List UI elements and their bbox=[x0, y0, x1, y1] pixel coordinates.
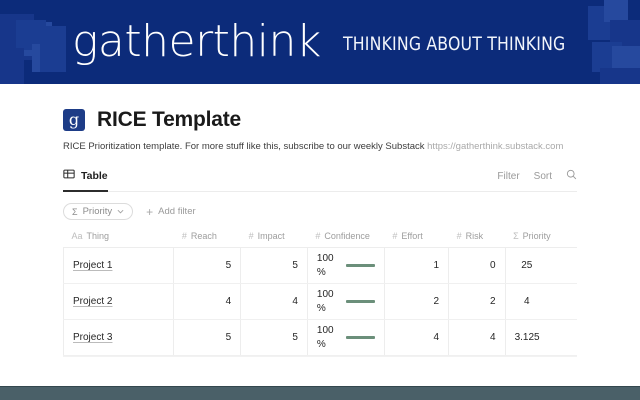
confidence-progress-bar bbox=[346, 264, 375, 267]
confidence-progress-bar bbox=[346, 336, 375, 339]
sigma-type-icon: Σ bbox=[513, 231, 519, 241]
sort-button[interactable]: Sort bbox=[534, 171, 552, 182]
cell-thing[interactable]: Project 1 bbox=[64, 248, 174, 284]
cell-confidence[interactable]: 100% bbox=[307, 320, 384, 356]
cell-risk[interactable]: 2 bbox=[449, 284, 505, 320]
cell-reach[interactable]: 5 bbox=[174, 248, 241, 284]
brand-tagline: THINKING ABOUT THINKING bbox=[343, 29, 565, 55]
text-type-icon: Aa bbox=[72, 231, 83, 241]
page-footer-bar bbox=[0, 386, 640, 400]
decor-square bbox=[604, 0, 628, 22]
column-header-risk[interactable]: #Risk bbox=[449, 231, 505, 248]
cell-impact[interactable]: 5 bbox=[241, 320, 308, 356]
number-type-icon: # bbox=[249, 231, 254, 241]
cell-priority: 25 bbox=[505, 248, 577, 284]
g-logo-icon: g bbox=[63, 109, 85, 131]
cell-effort[interactable]: 4 bbox=[384, 320, 448, 356]
column-header-thing[interactable]: AaThing bbox=[64, 231, 174, 248]
cell-reach[interactable]: 4 bbox=[174, 284, 241, 320]
decor-square bbox=[0, 48, 24, 84]
table-row[interactable]: Project 2 4 4 100% 2 2 4 bbox=[64, 284, 578, 320]
cell-reach[interactable]: 5 bbox=[174, 320, 241, 356]
sigma-icon: Σ bbox=[72, 207, 78, 217]
tab-table-label: Table bbox=[81, 170, 108, 182]
table-row[interactable]: Project 3 5 5 100% 4 4 3.125 bbox=[64, 320, 578, 356]
number-type-icon: # bbox=[182, 231, 187, 241]
filter-bar: Σ Priority + Add filter bbox=[63, 203, 577, 220]
search-icon[interactable] bbox=[566, 167, 577, 185]
filter-chip-priority[interactable]: Σ Priority bbox=[63, 203, 133, 220]
table-bottom-divider bbox=[63, 356, 577, 357]
cell-confidence[interactable]: 100% bbox=[307, 284, 384, 320]
decor-square bbox=[612, 46, 640, 70]
page-description-text: RICE Prioritization template. For more s… bbox=[63, 141, 425, 152]
decor-square bbox=[40, 26, 66, 72]
plus-icon: + bbox=[146, 206, 153, 218]
cell-thing[interactable]: Project 2 bbox=[64, 284, 174, 320]
decor-square bbox=[600, 68, 640, 84]
view-toolbar: Table Filter Sort bbox=[63, 167, 577, 192]
number-type-icon: # bbox=[315, 231, 320, 241]
page-title: RICE Template bbox=[97, 108, 241, 132]
number-type-icon: # bbox=[457, 231, 462, 241]
substack-link[interactable]: https://gatherthink.substack.com bbox=[427, 141, 563, 152]
rice-table: AaThing #Reach #Impact #Confidence #Effo… bbox=[63, 231, 577, 356]
table-grid-icon bbox=[63, 167, 75, 185]
add-filter-button[interactable]: + Add filter bbox=[146, 206, 196, 218]
cell-effort[interactable]: 2 bbox=[384, 284, 448, 320]
cell-priority: 3.125 bbox=[505, 320, 577, 356]
chevron-down-icon bbox=[117, 206, 124, 217]
site-banner: gatherthink THINKING ABOUT THINKING bbox=[0, 0, 640, 84]
column-header-effort[interactable]: #Effort bbox=[384, 231, 448, 248]
cell-effort[interactable]: 1 bbox=[384, 248, 448, 284]
page-content: g RICE Template RICE Prioritization temp… bbox=[0, 108, 640, 357]
brand-lockup: gatherthink THINKING ABOUT THINKING bbox=[72, 0, 585, 84]
table-header-row: AaThing #Reach #Impact #Confidence #Effo… bbox=[64, 231, 578, 248]
table-row[interactable]: Project 1 5 5 100% 1 0 25 bbox=[64, 248, 578, 284]
filter-button[interactable]: Filter bbox=[497, 171, 519, 182]
cell-risk[interactable]: 4 bbox=[449, 320, 505, 356]
cell-impact[interactable]: 5 bbox=[241, 248, 308, 284]
column-header-confidence[interactable]: #Confidence bbox=[307, 231, 384, 248]
cell-thing[interactable]: Project 3 bbox=[64, 320, 174, 356]
page-description: RICE Prioritization template. For more s… bbox=[63, 141, 577, 153]
page-header: g RICE Template bbox=[63, 108, 577, 132]
column-header-impact[interactable]: #Impact bbox=[241, 231, 308, 248]
number-type-icon: # bbox=[392, 231, 397, 241]
column-header-reach[interactable]: #Reach bbox=[174, 231, 241, 248]
filter-chip-label: Priority bbox=[83, 206, 113, 217]
tab-table[interactable]: Table bbox=[63, 167, 108, 192]
cell-impact[interactable]: 4 bbox=[241, 284, 308, 320]
cell-confidence[interactable]: 100% bbox=[307, 248, 384, 284]
cell-risk[interactable]: 0 bbox=[449, 248, 505, 284]
toolbar-actions: Filter Sort bbox=[497, 167, 577, 191]
brand-name: gatherthink bbox=[72, 20, 321, 64]
add-filter-label: Add filter bbox=[158, 206, 196, 217]
cell-priority: 4 bbox=[505, 284, 577, 320]
confidence-progress-bar bbox=[346, 300, 375, 303]
column-header-priority[interactable]: ΣPriority bbox=[505, 231, 577, 248]
